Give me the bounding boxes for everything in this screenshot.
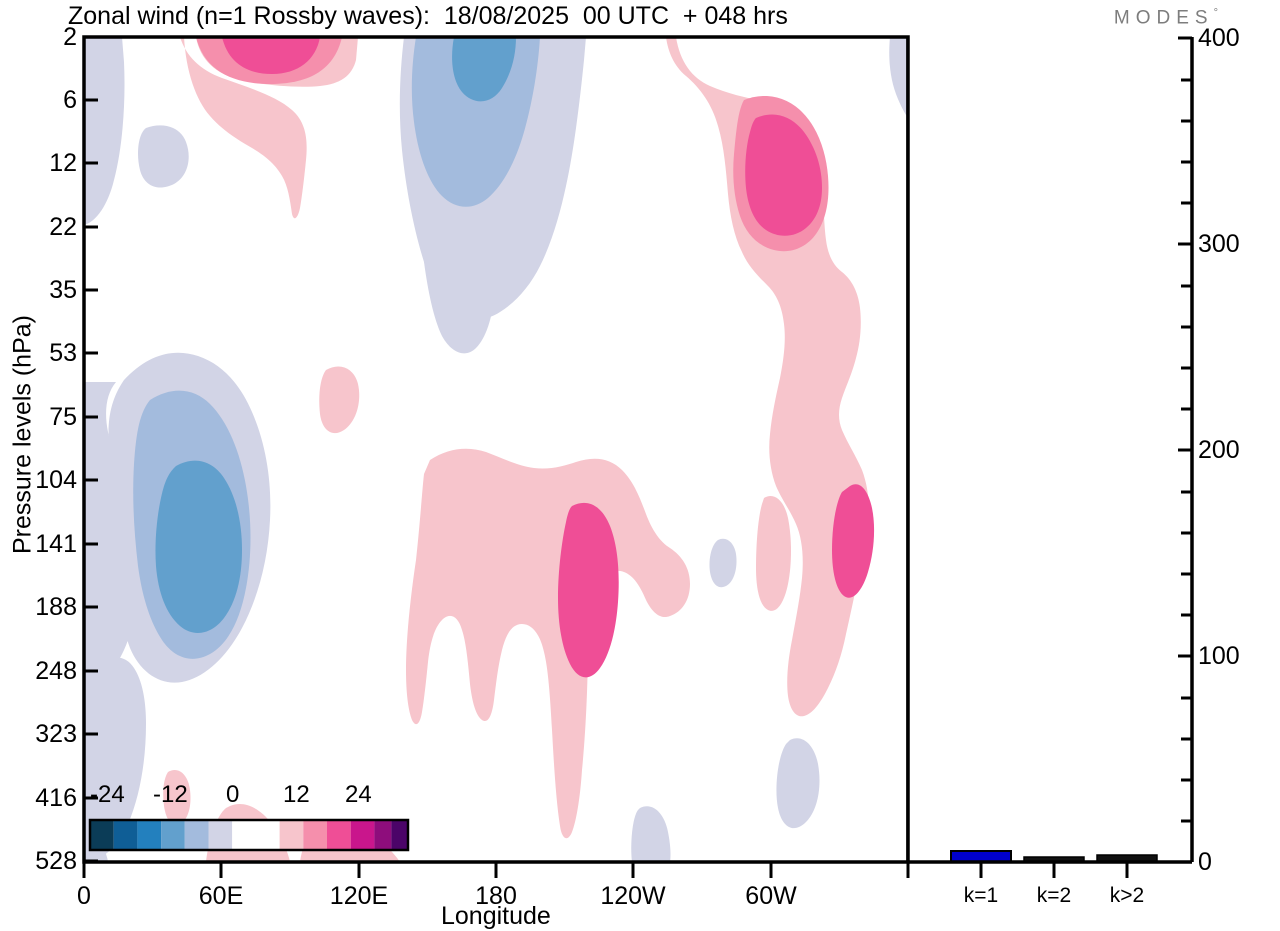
colorbar-tick-label: -24	[90, 781, 125, 809]
ytick-label: 416	[25, 784, 77, 813]
colorbar-swatch	[209, 820, 233, 850]
colorbar-swatch	[90, 820, 114, 850]
ytick-label: 323	[25, 720, 77, 749]
xtick-label: 0	[77, 882, 91, 911]
xtick-label: 120E	[330, 882, 388, 911]
colorbar-tick-label: 0	[226, 781, 239, 809]
colorbar-swatch	[303, 820, 327, 850]
ytick-label: 188	[25, 593, 77, 622]
colorbar-tick-label: -12	[153, 781, 188, 809]
ytick-label: 75	[38, 403, 77, 432]
figure-root: Zonal wind (n=1 Rossby waves): 18/08/202…	[0, 0, 1280, 930]
colorbar-swatch	[114, 820, 138, 850]
colorbar-swatch	[280, 820, 304, 850]
modes-logo-degree: °	[1214, 7, 1218, 19]
y2tick-label: 300	[1198, 230, 1240, 259]
x-axis-title: Longitude	[441, 902, 551, 931]
page-title: Zonal wind (n=1 Rossby waves): 18/08/202…	[68, 2, 788, 31]
ytick-label: 6	[51, 86, 77, 115]
colorbar-swatch	[232, 820, 279, 850]
xtick-label: 120W	[600, 882, 665, 911]
ytick-label: 22	[38, 213, 77, 242]
ytick-label: 2	[51, 23, 77, 52]
contour-field	[84, 37, 908, 862]
colorbar-swatch	[161, 820, 185, 850]
energy-bar-panel	[909, 37, 1192, 862]
colorbar-swatch	[391, 820, 407, 850]
colorbar-swatch	[351, 820, 375, 850]
ytick-label: 248	[25, 657, 77, 686]
ytick-label: 35	[38, 276, 77, 305]
y2tick-label: 100	[1198, 642, 1240, 671]
y-axis-title: Pressure levels (hPa)	[9, 275, 38, 595]
y2tick-label: 200	[1198, 436, 1240, 465]
bar-category-label: k>2	[1110, 884, 1144, 908]
y2tick-label: 400	[1198, 24, 1240, 53]
ytick-label: 528	[25, 847, 77, 876]
colorbar	[90, 820, 408, 850]
bar-axis-ticks	[981, 862, 1127, 878]
xtick-label: 60E	[199, 882, 243, 911]
bar-category-label: k=2	[1037, 884, 1071, 908]
ytick-label: 53	[38, 339, 77, 368]
contour-blob-neg4	[138, 125, 189, 187]
colorbar-swatch	[327, 820, 351, 850]
colorbar-swatch	[137, 820, 161, 850]
ytick-label: 12	[38, 149, 77, 178]
colorbar-swatch	[374, 820, 391, 850]
bar-category-label: k=1	[964, 884, 998, 908]
colorbar-tick-label: 24	[345, 781, 372, 809]
y2tick-label: 0	[1198, 848, 1212, 877]
bottom-axis-ticks	[84, 862, 908, 878]
colorbar-tick-label: 12	[283, 781, 310, 809]
xtick-label: 60W	[745, 882, 796, 911]
colorbar-swatch	[185, 820, 209, 850]
chart-canvas	[0, 0, 1280, 930]
